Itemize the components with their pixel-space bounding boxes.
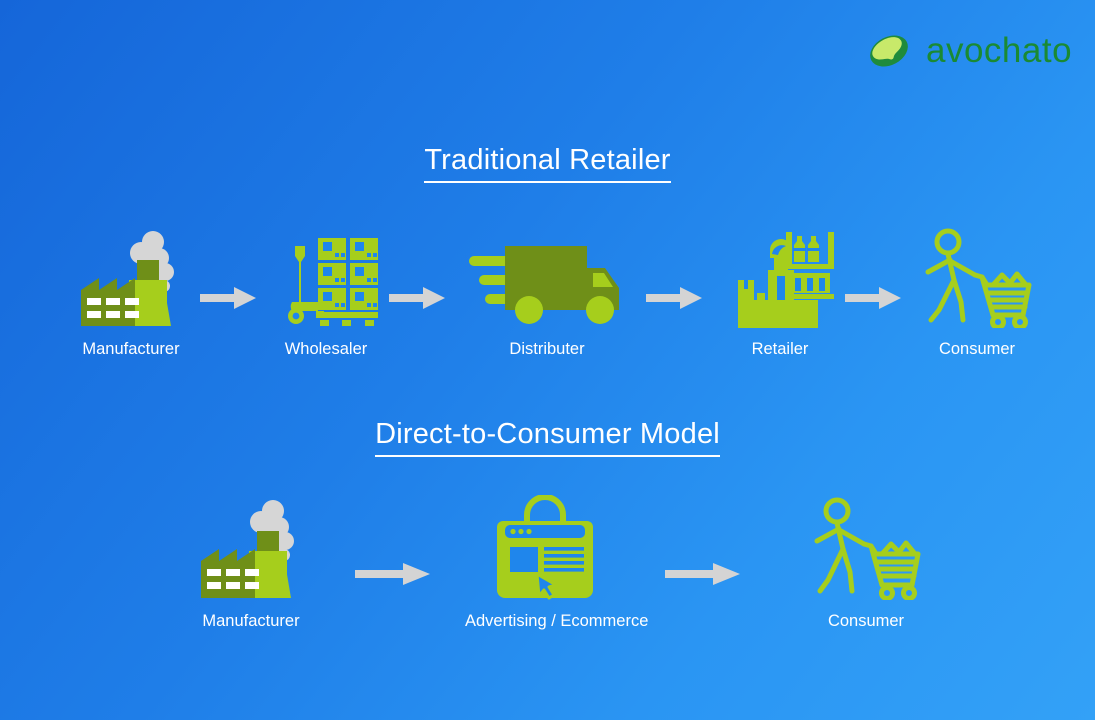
node-label: Manufacturer	[51, 340, 211, 359]
shopping-bag-browser-icon	[465, 500, 625, 600]
section-title-traditional: Traditional Retailer	[0, 144, 1095, 177]
node-consumer-dtc: Consumer	[786, 500, 946, 631]
section-title-dtc-text: Direct-to-Consumer Model	[375, 418, 720, 457]
flow-arrow-icon	[389, 285, 445, 316]
store-counter-cashier-icon	[700, 228, 860, 328]
node-manufacturer-dtc: Manufacturer	[171, 500, 331, 631]
slide-canvas: avochato Traditional Retailer	[0, 0, 1095, 720]
brand-wordmark: avochato	[926, 31, 1072, 71]
node-manufacturer-traditional: Manufacturer	[51, 228, 211, 359]
avocado-icon	[866, 28, 912, 74]
flow-arrow-icon	[646, 285, 702, 316]
factory-icon	[171, 500, 331, 600]
flow-traditional: Manufacturer	[0, 228, 1095, 378]
node-label: Advertising / Ecommerce	[465, 612, 625, 631]
node-label: Wholesaler	[246, 340, 406, 359]
avochato-logo: avochato	[866, 28, 1072, 74]
flow-arrow-icon	[845, 285, 901, 316]
section-title-traditional-text: Traditional Retailer	[424, 144, 670, 183]
node-label: Retailer	[700, 340, 860, 359]
node-distributer: Distributer	[467, 228, 627, 359]
factory-icon	[51, 228, 211, 328]
flow-arrow-icon	[665, 560, 740, 593]
delivery-truck-icon	[467, 228, 627, 328]
node-retailer: Retailer	[700, 228, 860, 359]
section-title-dtc: Direct-to-Consumer Model	[0, 418, 1095, 451]
node-label: Manufacturer	[171, 612, 331, 631]
flow-arrow-icon	[355, 560, 430, 593]
flow-dtc: Manufacturer	[0, 500, 1095, 655]
node-advertising-ecommerce: Advertising / Ecommerce	[465, 500, 625, 631]
pallet-jack-boxes-icon	[246, 228, 406, 328]
node-label: Consumer	[786, 612, 946, 631]
node-label: Consumer	[897, 340, 1057, 359]
node-consumer-traditional: Consumer	[897, 228, 1057, 359]
node-label: Distributer	[467, 340, 627, 359]
shopper-cart-icon	[897, 228, 1057, 328]
node-wholesaler: Wholesaler	[246, 228, 406, 359]
shopper-cart-icon	[786, 500, 946, 600]
